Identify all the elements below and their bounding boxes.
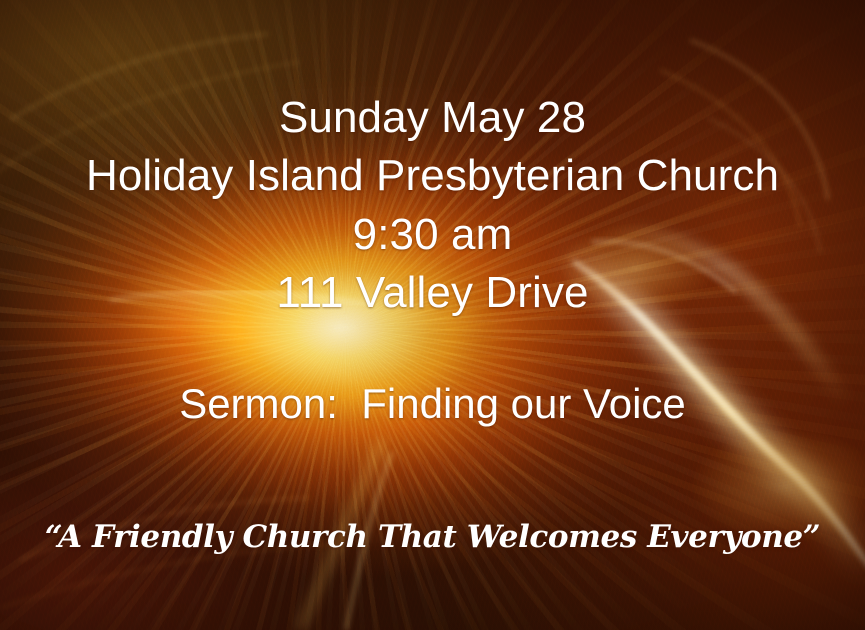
church-tagline: “A Friendly Church That Welcomes Everyon… <box>0 522 865 553</box>
sermon-title-line: Sermon: Finding our Voice <box>0 383 865 425</box>
church-name-line: Holiday Island Presbyterian Church <box>0 154 865 198</box>
service-address-line: 111 Valley Drive <box>0 271 865 315</box>
slide-text-stack: Sunday May 28 Holiday Island Presbyteria… <box>0 0 865 630</box>
service-date-line: Sunday May 28 <box>0 96 865 140</box>
announcement-slide: Sunday May 28 Holiday Island Presbyteria… <box>0 0 865 630</box>
service-time-line: 9:30 am <box>0 213 865 257</box>
